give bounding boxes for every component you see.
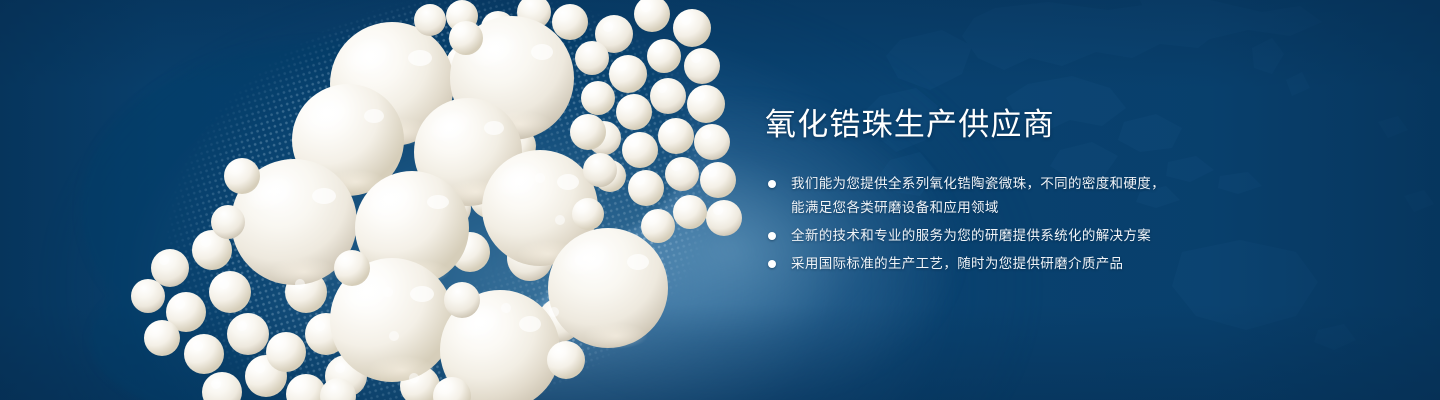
- list-item-line-2: 能满足您各类研磨设备和应用领域: [791, 196, 1365, 220]
- list-item: 我们能为您提供全系列氧化锆陶瓷微珠，不同的密度和硬度， 能满足您各类研磨设备和应…: [765, 172, 1365, 220]
- list-item-line-1: 采用国际标准的生产工艺，随时为您提供研磨介质产品: [791, 256, 1123, 271]
- hero-banner: 氧化锆珠生产供应商 我们能为您提供全系列氧化锆陶瓷微珠，不同的密度和硬度， 能满…: [0, 0, 1440, 400]
- list-item-line-1: 全新的技术和专业的服务为您的研磨提供系统化的解决方案: [791, 228, 1151, 243]
- bullet-dot-icon: [768, 260, 776, 268]
- list-item-text: 采用国际标准的生产工艺，随时为您提供研磨介质产品: [791, 252, 1365, 276]
- list-item-text: 全新的技术和专业的服务为您的研磨提供系统化的解决方案: [791, 224, 1365, 248]
- list-item-text: 我们能为您提供全系列氧化锆陶瓷微珠，不同的密度和硬度， 能满足您各类研磨设备和应…: [791, 172, 1365, 220]
- banner-copy: 氧化锆珠生产供应商 我们能为您提供全系列氧化锆陶瓷微珠，不同的密度和硬度， 能满…: [765, 104, 1365, 276]
- list-item: 全新的技术和专业的服务为您的研磨提供系统化的解决方案: [765, 224, 1365, 248]
- bullet-dot-icon: [768, 232, 776, 240]
- list-item: 采用国际标准的生产工艺，随时为您提供研磨介质产品: [765, 252, 1365, 276]
- list-item-line-1: 我们能为您提供全系列氧化锆陶瓷微珠，不同的密度和硬度，: [791, 176, 1165, 191]
- bullet-dot-icon: [768, 180, 776, 188]
- feature-list: 我们能为您提供全系列氧化锆陶瓷微珠，不同的密度和硬度， 能满足您各类研磨设备和应…: [765, 172, 1365, 276]
- page-title: 氧化锆珠生产供应商: [765, 104, 1365, 146]
